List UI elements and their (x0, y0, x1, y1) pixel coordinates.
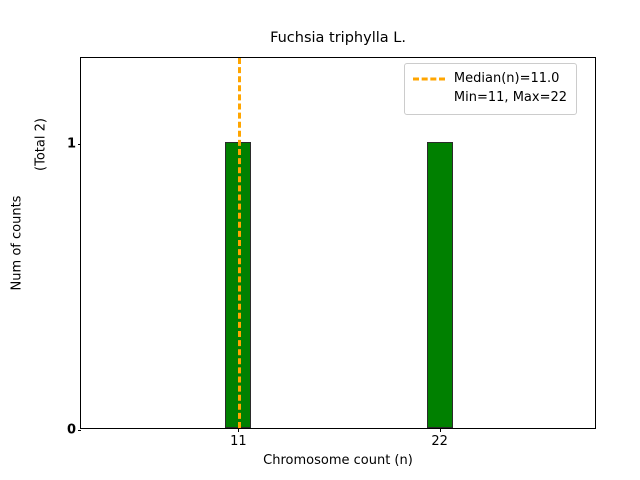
y-tick-mark (78, 430, 82, 431)
legend-item-label: Median(n)=11.0 (454, 70, 560, 89)
legend-dashed-line-icon (413, 73, 445, 85)
y-tick-mark (78, 144, 82, 145)
x-tick-label: 22 (431, 434, 448, 449)
legend-item-label: Min=11, Max=22 (454, 89, 567, 108)
figure-canvas: Fuchsia triphylla L. Num of counts (Tota… (0, 0, 640, 480)
plot-area: 01 1122 Median(n)=11.0 Min=11, Max=22 (80, 57, 596, 429)
y-axis-sublabel: (Total 2) (34, 118, 49, 171)
y-axis-sublabel-container: (Total 2) (26, 57, 56, 429)
x-tick-mark (440, 428, 441, 432)
legend: Median(n)=11.0 Min=11, Max=22 (404, 63, 577, 115)
x-tick-label: 11 (230, 434, 247, 449)
median-line (238, 58, 241, 428)
x-axis-label: Chromosome count (n) (80, 453, 596, 468)
legend-spacer (413, 92, 445, 104)
chart-title: Fuchsia triphylla L. (80, 30, 596, 46)
legend-item: Min=11, Max=22 (413, 89, 567, 108)
y-tick-label: 0 (67, 423, 76, 438)
bar (427, 142, 453, 428)
y-axis-label: Num of counts (10, 196, 25, 291)
y-tick-label: 1 (67, 136, 76, 151)
x-tick-mark (238, 428, 239, 432)
legend-item: Median(n)=11.0 (413, 70, 567, 89)
